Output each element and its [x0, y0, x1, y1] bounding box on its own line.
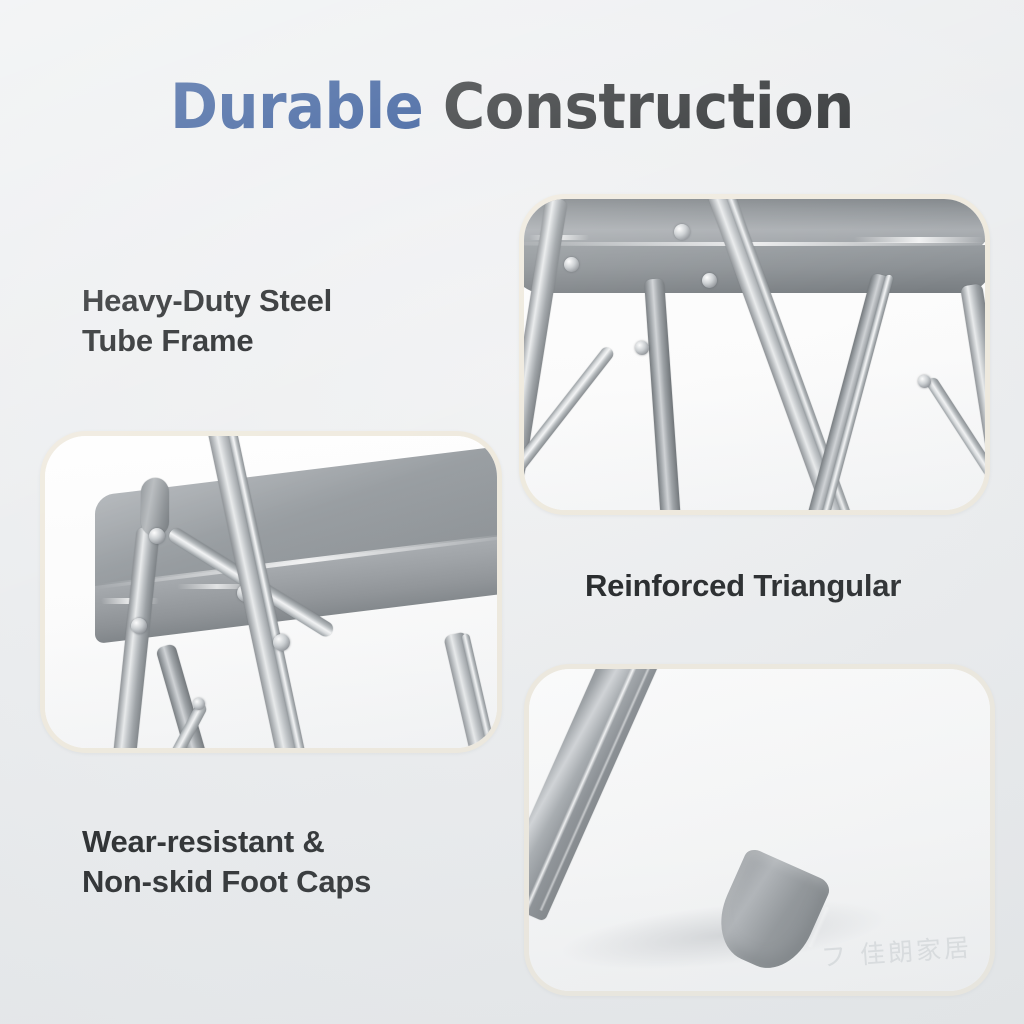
- photo-stage: [524, 199, 985, 510]
- lower-brace-rivet: [193, 698, 205, 710]
- apron-rivet: [131, 618, 147, 634]
- center-tube-rivet: [273, 634, 290, 651]
- triangular-brace-right: [925, 376, 985, 510]
- hinge-rivet-main: [149, 528, 165, 544]
- seat-corner-glint: [854, 237, 984, 243]
- photo-panel-non-skid-foot-cap: フ 佳朗家居: [524, 664, 995, 996]
- page-title-accent: Durable: [170, 70, 423, 143]
- brace-rivet-left: [635, 341, 649, 355]
- callout-label-wear-resistant-non-skid-foot-caps: Wear-resistant & Non-skid Foot Caps: [82, 822, 371, 901]
- brace-rivet-right: [918, 375, 931, 388]
- seat-rivet-2: [674, 224, 690, 240]
- seat-rivet-1: [564, 257, 579, 272]
- photo-stage: フ 佳朗家居: [529, 669, 990, 991]
- infographic-canvas: Durable Construction Heavy-Duty Steel Tu…: [0, 0, 1024, 1024]
- photo-stage: [45, 436, 497, 748]
- callout-label-reinforced-triangular: Reinforced Triangular: [585, 566, 901, 606]
- seat-rivet-3: [702, 273, 717, 288]
- rear-left-leg-tube: [644, 278, 681, 510]
- page-title-rest: Construction: [423, 70, 854, 143]
- photo-panel-reinforced-triangular: [519, 194, 990, 515]
- right-outer-leg-tube: [960, 283, 985, 510]
- callout-label-heavy-duty-steel-tube-frame: Heavy-Duty Steel Tube Frame: [82, 281, 332, 360]
- page-title: Durable Construction: [36, 76, 988, 138]
- photo-panel-heavy-duty-steel-tube-frame: [40, 431, 502, 753]
